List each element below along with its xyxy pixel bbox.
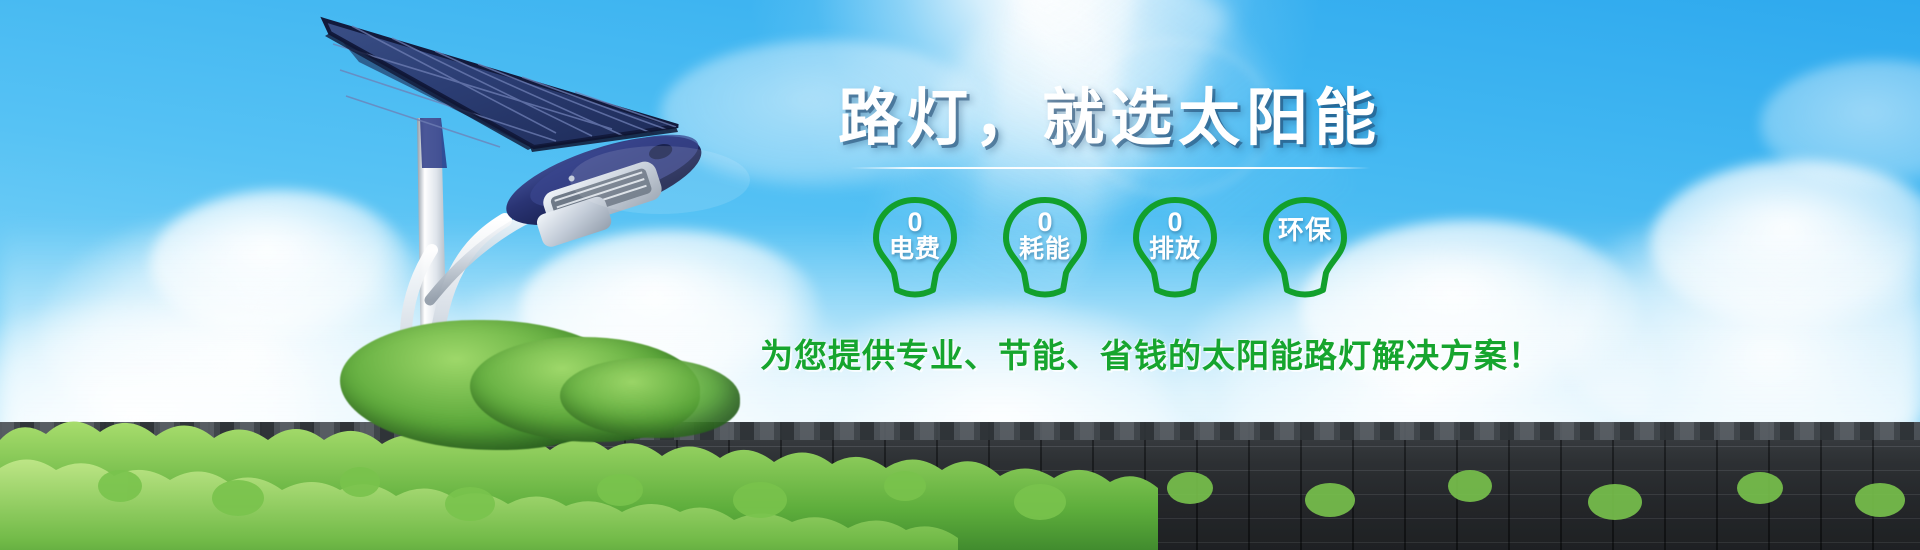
feature-bulb-text: 0 耗能	[997, 209, 1093, 262]
banner-copy: 路灯，就选太阳能 0 电费 0 耗能	[760, 86, 1460, 377]
tiled-wall	[0, 422, 1920, 550]
banner-tagline: 为您提供专业、节能、省钱的太阳能路灯解决方案！	[760, 329, 1460, 377]
solar-street-light-banner: 路灯，就选太阳能 0 电费 0 耗能	[0, 0, 1920, 550]
feature-word: 耗能	[997, 237, 1093, 263]
feature-word: 电费	[867, 237, 963, 263]
feature-zero: 0	[1127, 209, 1223, 237]
feature-word: 排放	[1127, 237, 1223, 263]
feature-bulb-text: 环保	[1257, 217, 1353, 244]
feature-bulb-text: 0 电费	[867, 209, 963, 262]
feature-bulb-text: 0 排放	[1127, 209, 1223, 262]
feature-zero: 0	[867, 209, 963, 237]
feature-word: 环保	[1257, 217, 1353, 244]
wall-tile-cap	[0, 422, 1920, 440]
title-divider	[850, 167, 1370, 169]
feature-zero: 0	[997, 209, 1093, 237]
feature-bulb-list: 0 电费 0 耗能 0 排放	[760, 195, 1460, 303]
feature-bulb-emissions: 0 排放	[1127, 195, 1223, 303]
feature-bulb-eco-friendly: 环保	[1257, 195, 1353, 303]
feature-bulb-energy-use: 0 耗能	[997, 195, 1093, 303]
feature-bulb-electricity-cost: 0 电费	[867, 195, 963, 303]
page-title: 路灯，就选太阳能	[760, 86, 1460, 151]
light-bulb-icon	[1257, 195, 1353, 303]
